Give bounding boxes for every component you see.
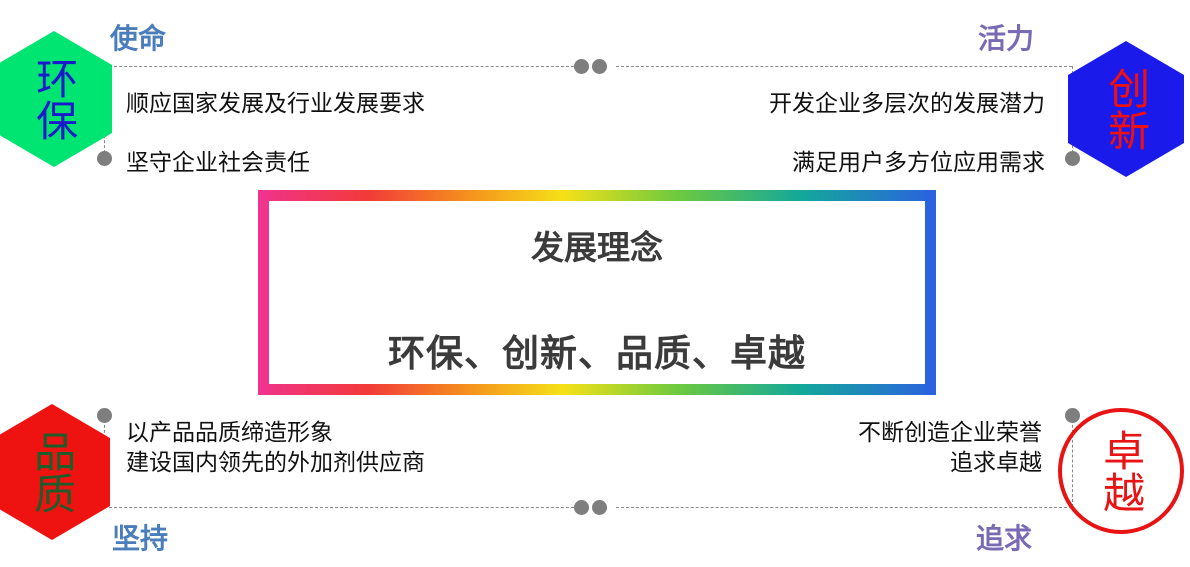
text-block-bottom-left: 以产品品质缔造形象 建设国内领先的外加剂供应商 <box>126 418 425 479</box>
text-line: 建设国内领先的外加剂供应商 <box>126 448 425 478</box>
heading-mission: 使命 <box>110 17 166 57</box>
center-values: 环保、创新、品质、卓越 <box>388 323 806 377</box>
badge-huanbao-label: 环保 <box>33 57 74 141</box>
text-line: 以产品品质缔造形象 <box>126 418 425 448</box>
connector-dot-bottom-right <box>1065 408 1080 423</box>
connector-dot-top-left <box>97 151 112 166</box>
heading-vitality: 活力 <box>978 17 1034 57</box>
connector-dot-bottom-center-left <box>574 500 589 515</box>
diagram-canvas: 环保 创新 品质 卓越 使命 活力 坚持 追求 顺应国家发展及行业发展要求 坚守… <box>0 0 1190 567</box>
badge-chuangxin-hexagon: 创新 <box>1068 41 1184 177</box>
connector-dot-top-right <box>1065 151 1080 166</box>
text-line: 开发企业多层次的发展潜力 <box>769 84 1045 118</box>
connector-line-top-right <box>616 66 1072 67</box>
connector-line-bottom-right <box>616 507 1072 508</box>
center-title: 发展理念 <box>531 221 663 269</box>
text-line: 满足用户多方位应用需求 <box>769 143 1045 177</box>
badge-chuangxin-label: 创新 <box>1105 67 1146 151</box>
connector-dot-top-center-right <box>592 59 607 74</box>
badge-zhuoyue-circle-stamp: 卓越 <box>1058 408 1184 534</box>
connector-line-top-left <box>104 66 574 67</box>
badge-pinzhi-label: 品质 <box>31 430 72 514</box>
text-block-top-left: 顺应国家发展及行业发展要求 坚守企业社会责任 <box>126 84 425 177</box>
heading-pursuit: 追求 <box>976 517 1032 557</box>
center-concept-inner: 发展理念 环保、创新、品质、卓越 <box>269 201 925 384</box>
connector-dot-bottom-center-right <box>592 500 607 515</box>
badge-huanbao-hexagon: 环保 <box>0 31 112 167</box>
text-line: 顺应国家发展及行业发展要求 <box>126 84 425 118</box>
connector-dot-top-center-left <box>574 59 589 74</box>
connector-dot-bottom-left <box>97 408 112 423</box>
connector-line-bottom-left <box>104 507 574 508</box>
text-line: 追求卓越 <box>858 448 1042 478</box>
text-line: 不断创造企业荣誉 <box>858 418 1042 448</box>
center-concept-box: 发展理念 环保、创新、品质、卓越 <box>258 190 936 395</box>
badge-zhuoyue-label: 卓越 <box>1100 429 1141 513</box>
text-line: 坚守企业社会责任 <box>126 143 425 177</box>
text-block-top-right: 开发企业多层次的发展潜力 满足用户多方位应用需求 <box>769 84 1045 177</box>
heading-persistence: 坚持 <box>112 517 168 557</box>
text-block-bottom-right: 不断创造企业荣誉 追求卓越 <box>858 418 1042 479</box>
badge-pinzhi-hexagon: 品质 <box>0 404 110 540</box>
